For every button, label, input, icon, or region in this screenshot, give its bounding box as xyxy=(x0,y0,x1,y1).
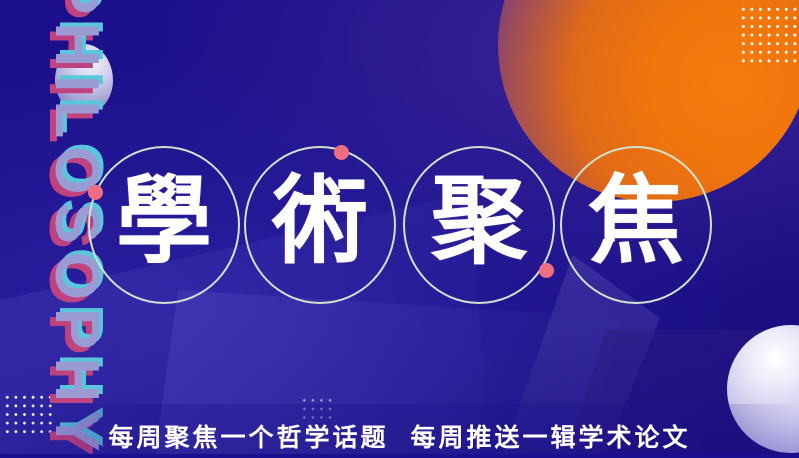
character-ju: 聚 xyxy=(403,173,555,269)
accent-dot-2 xyxy=(334,145,349,160)
character-shu: 術 xyxy=(244,173,396,269)
tagline: 每周聚焦一个哲学话题每周推送一辑学术论文 xyxy=(0,418,799,454)
character-jiao: 焦 xyxy=(560,173,712,269)
character-xue: 學 xyxy=(88,173,240,269)
bottom-edge-strip xyxy=(0,454,799,458)
tagline-left: 每周聚焦一个哲学话题 xyxy=(108,423,388,452)
philosophy-poster: PHILOSOPHY PHILOSOPHY PHILOSOPHY 學 術 聚 焦… xyxy=(0,0,799,458)
tagline-right: 每周推送一辑学术论文 xyxy=(411,423,691,452)
accent-dot-1 xyxy=(88,185,103,200)
dot-grid-top-right xyxy=(738,4,798,66)
accent-dot-3 xyxy=(539,263,554,278)
